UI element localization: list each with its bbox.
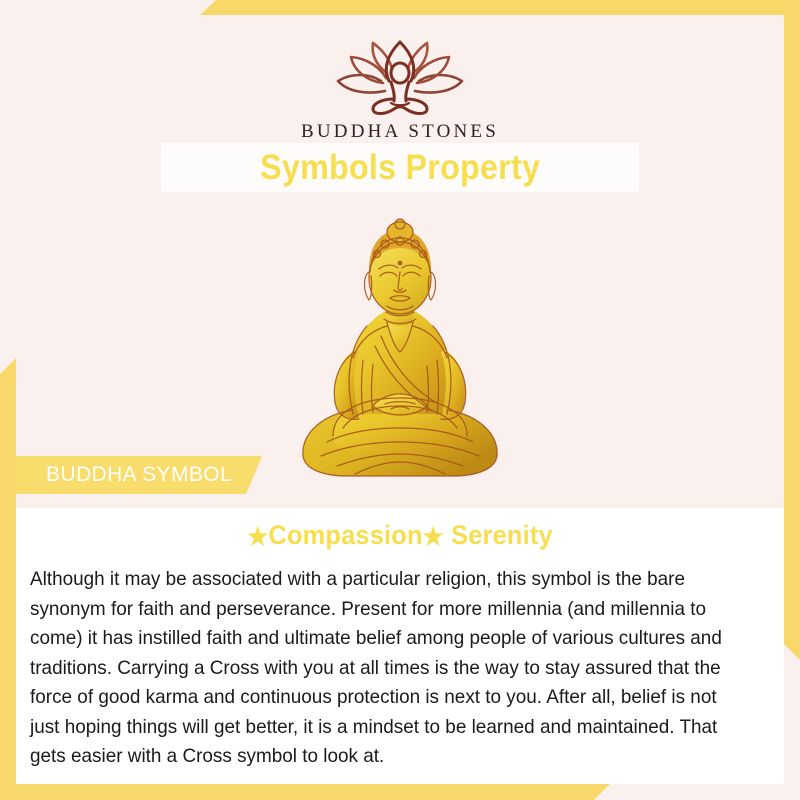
lotus-meditation-icon — [325, 33, 475, 117]
brand-logo: BUDDHA STONES — [16, 33, 784, 143]
symbol-tag-label: BUDDHA SYMBOL — [46, 463, 232, 487]
brand-wordmark: BUDDHA STONES — [16, 121, 784, 143]
virtues-heading: ★Compassion★ Serenity — [39, 520, 761, 552]
decor-band-top — [200, 0, 800, 15]
virtue-label-compassion: Compassion — [268, 520, 422, 550]
poster-root: BUDDHA STONES Symbols Property — [0, 0, 800, 800]
virtue-label-serenity: Serenity — [451, 520, 553, 550]
content-panel: ★Compassion★ Serenity Although it may be… — [16, 508, 784, 784]
star-icon-second: ★ — [423, 523, 444, 551]
star-icon-first: ★ — [247, 523, 268, 551]
decor-band-right — [784, 0, 800, 660]
golden-buddha-statue-icon — [275, 200, 525, 490]
decor-band-left — [0, 358, 16, 800]
page-title: Symbols Property — [260, 148, 540, 188]
decor-band-bottom — [0, 784, 610, 800]
body-paragraph: Although it may be associated with a par… — [30, 565, 748, 772]
symbol-tag: BUDDHA SYMBOL — [16, 456, 262, 494]
hero-illustration — [16, 200, 784, 500]
title-banner: Symbols Property — [161, 143, 639, 192]
